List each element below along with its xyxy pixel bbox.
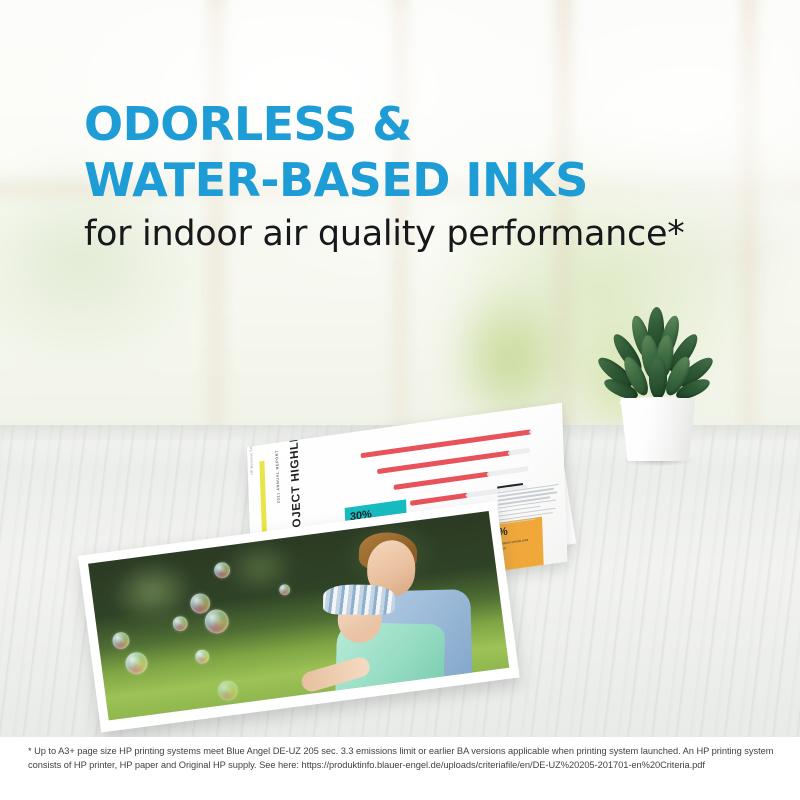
headline-line-2: WATER-BASED INKS <box>84 152 784 208</box>
soap-bubble <box>172 615 189 632</box>
brochure-text-sidebar <box>497 478 560 527</box>
bar-value <box>410 493 468 506</box>
brochure-rule <box>497 483 523 488</box>
soap-bubble <box>194 649 210 665</box>
soap-bubble <box>111 631 130 650</box>
subtitle: for indoor air quality performance* <box>84 212 684 256</box>
soap-bubble <box>203 608 230 635</box>
footnote-band: * Up to A3+ page size HP printing system… <box>0 737 800 800</box>
footnote-text: * Up to A3+ page size HP printing system… <box>28 745 774 772</box>
soap-bubble <box>217 679 239 701</box>
plant-leaf <box>649 357 667 399</box>
soap-bubble <box>124 651 149 676</box>
poster-root: HP Business Solutions 2021 ANNUAL REPORT… <box>0 0 800 800</box>
bar-value <box>394 472 489 490</box>
soap-bubble <box>213 561 231 579</box>
succulent-plant <box>596 309 720 461</box>
plant-pot <box>618 398 698 461</box>
bar-endpoint-dot <box>529 430 532 433</box>
child-hat <box>323 584 395 615</box>
brochure-eyebrow: 2021 ANNUAL REPORT <box>275 450 281 504</box>
headline-block: ODORLESS & WATER-BASED INKS <box>84 96 784 208</box>
headline-line-1: ODORLESS & <box>84 96 784 152</box>
